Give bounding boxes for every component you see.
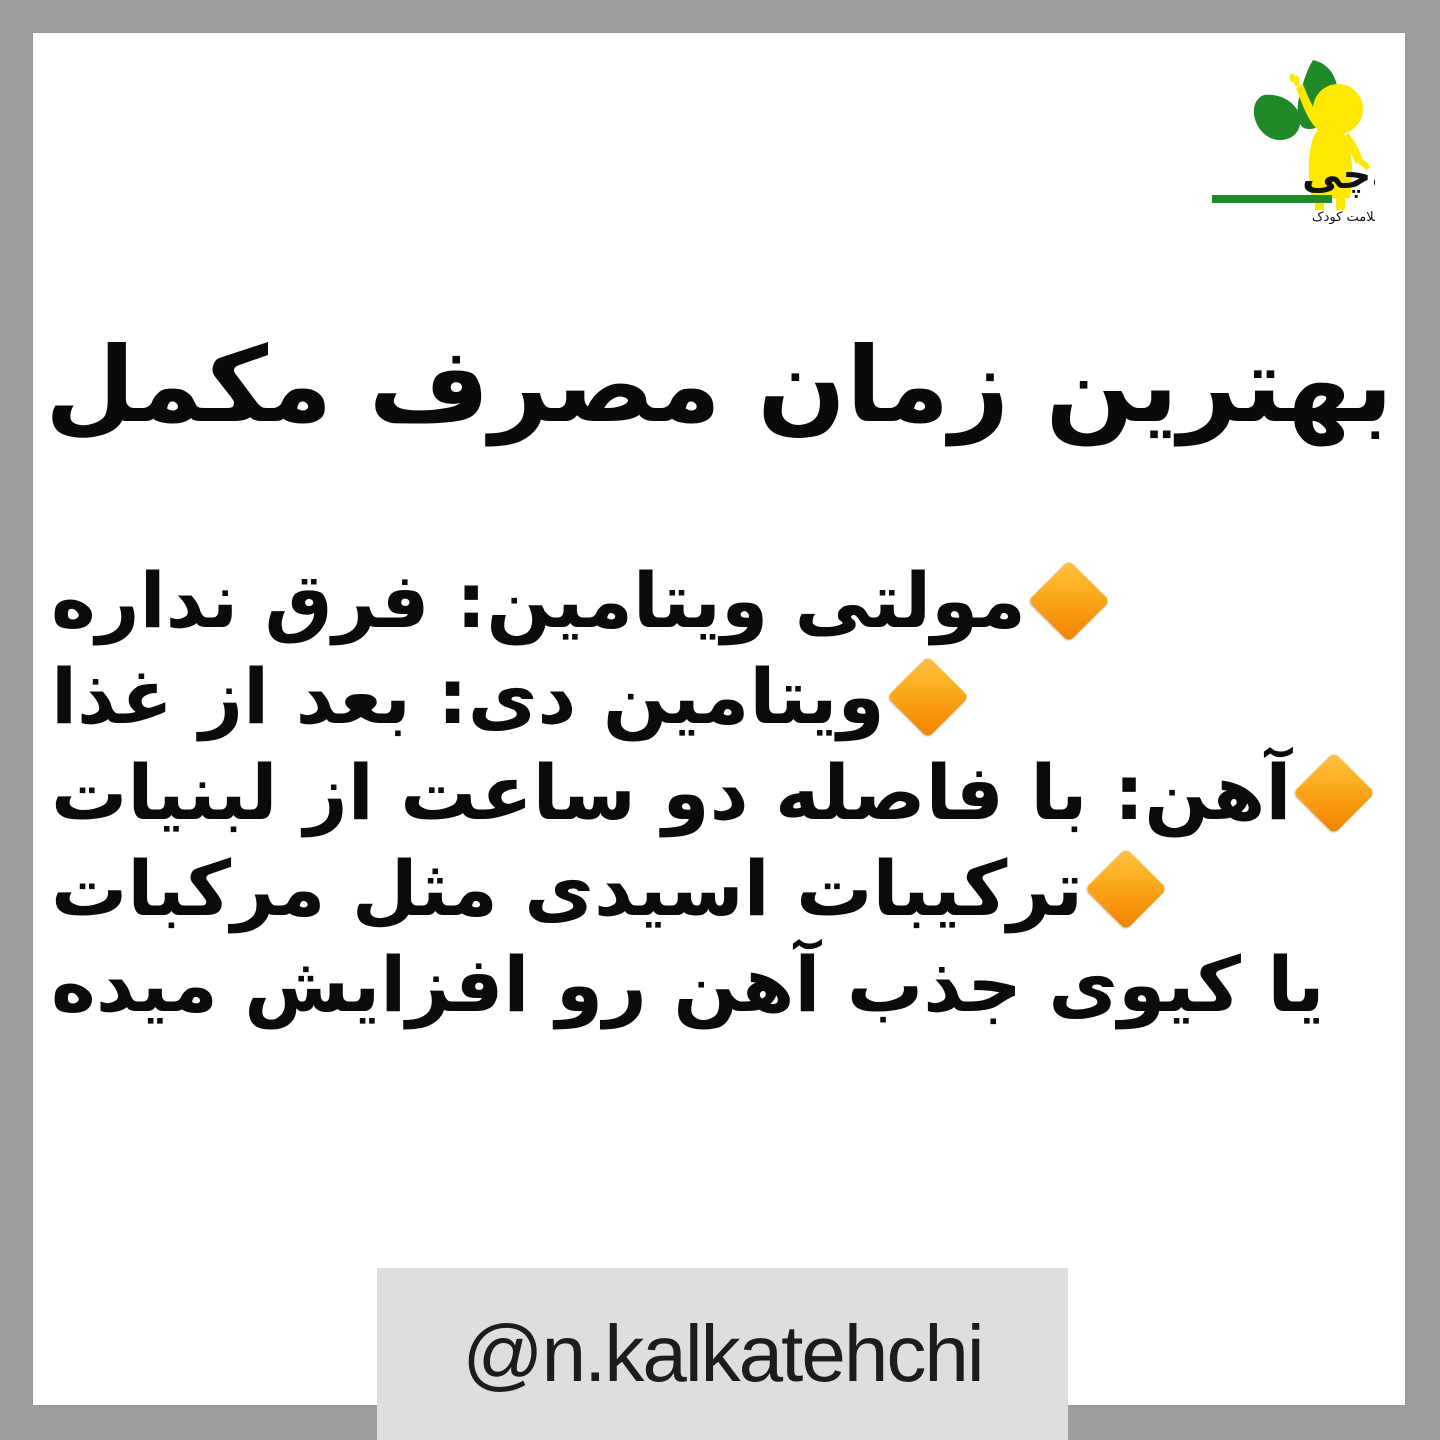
list-item-label: ویتامین دی: بعد از غذا — [51, 649, 885, 745]
page-title: بهترین زمان مصرف مکمل — [33, 325, 1405, 446]
instagram-handle[interactable]: @n.kalkatehchi — [462, 1314, 982, 1394]
list-item-label: آهن: با فاصله دو ساعت از لبنیات — [51, 745, 1291, 841]
leaf-icon-lower — [1254, 95, 1300, 140]
list-item: ویتامین دی: بعد از غذا — [51, 649, 1387, 745]
poster-card: ندا کلکته‌چی مشاور تغذیه و سلامت کودک به… — [33, 33, 1405, 1405]
diamond-bullet-icon — [1291, 745, 1377, 841]
list-item-label: مولتی ویتامین: فرق نداره — [51, 553, 1026, 649]
list-item: مولتی ویتامین: فرق نداره — [51, 553, 1387, 649]
list-item-continuation: یا کیوی جذب آهن رو افزایش میده — [51, 937, 1387, 1033]
list-item-label: یا کیوی جذب آهن رو افزایش میده — [51, 937, 1324, 1033]
handle-plate: @n.kalkatehchi — [377, 1268, 1068, 1440]
diamond-bullet-icon — [1083, 841, 1169, 937]
list-item: ترکیبات اسیدی مثل مرکبات — [51, 841, 1387, 937]
supplement-timing-list: مولتی ویتامین: فرق نداره ویتامین دی: بعد… — [51, 553, 1387, 1033]
list-item-label: ترکیبات اسیدی مثل مرکبات — [51, 841, 1083, 937]
brand-logo-artwork: ندا کلکته‌چی مشاور تغذیه و سلامت کودک — [1190, 48, 1375, 228]
brand-tagline-text: مشاور تغذیه و سلامت کودک — [1312, 210, 1375, 225]
list-item: آهن: با فاصله دو ساعت از لبنیات — [51, 745, 1387, 841]
brand-logo[interactable]: ندا کلکته‌چی مشاور تغذیه و سلامت کودک — [1190, 48, 1375, 228]
poster-canvas: ندا کلکته‌چی مشاور تغذیه و سلامت کودک به… — [0, 0, 1440, 1440]
brand-name-text: ندا کلکته‌چی — [1302, 152, 1375, 198]
diamond-bullet-icon — [885, 649, 971, 745]
diamond-bullet-icon — [1026, 553, 1112, 649]
brand-rule — [1212, 195, 1332, 203]
